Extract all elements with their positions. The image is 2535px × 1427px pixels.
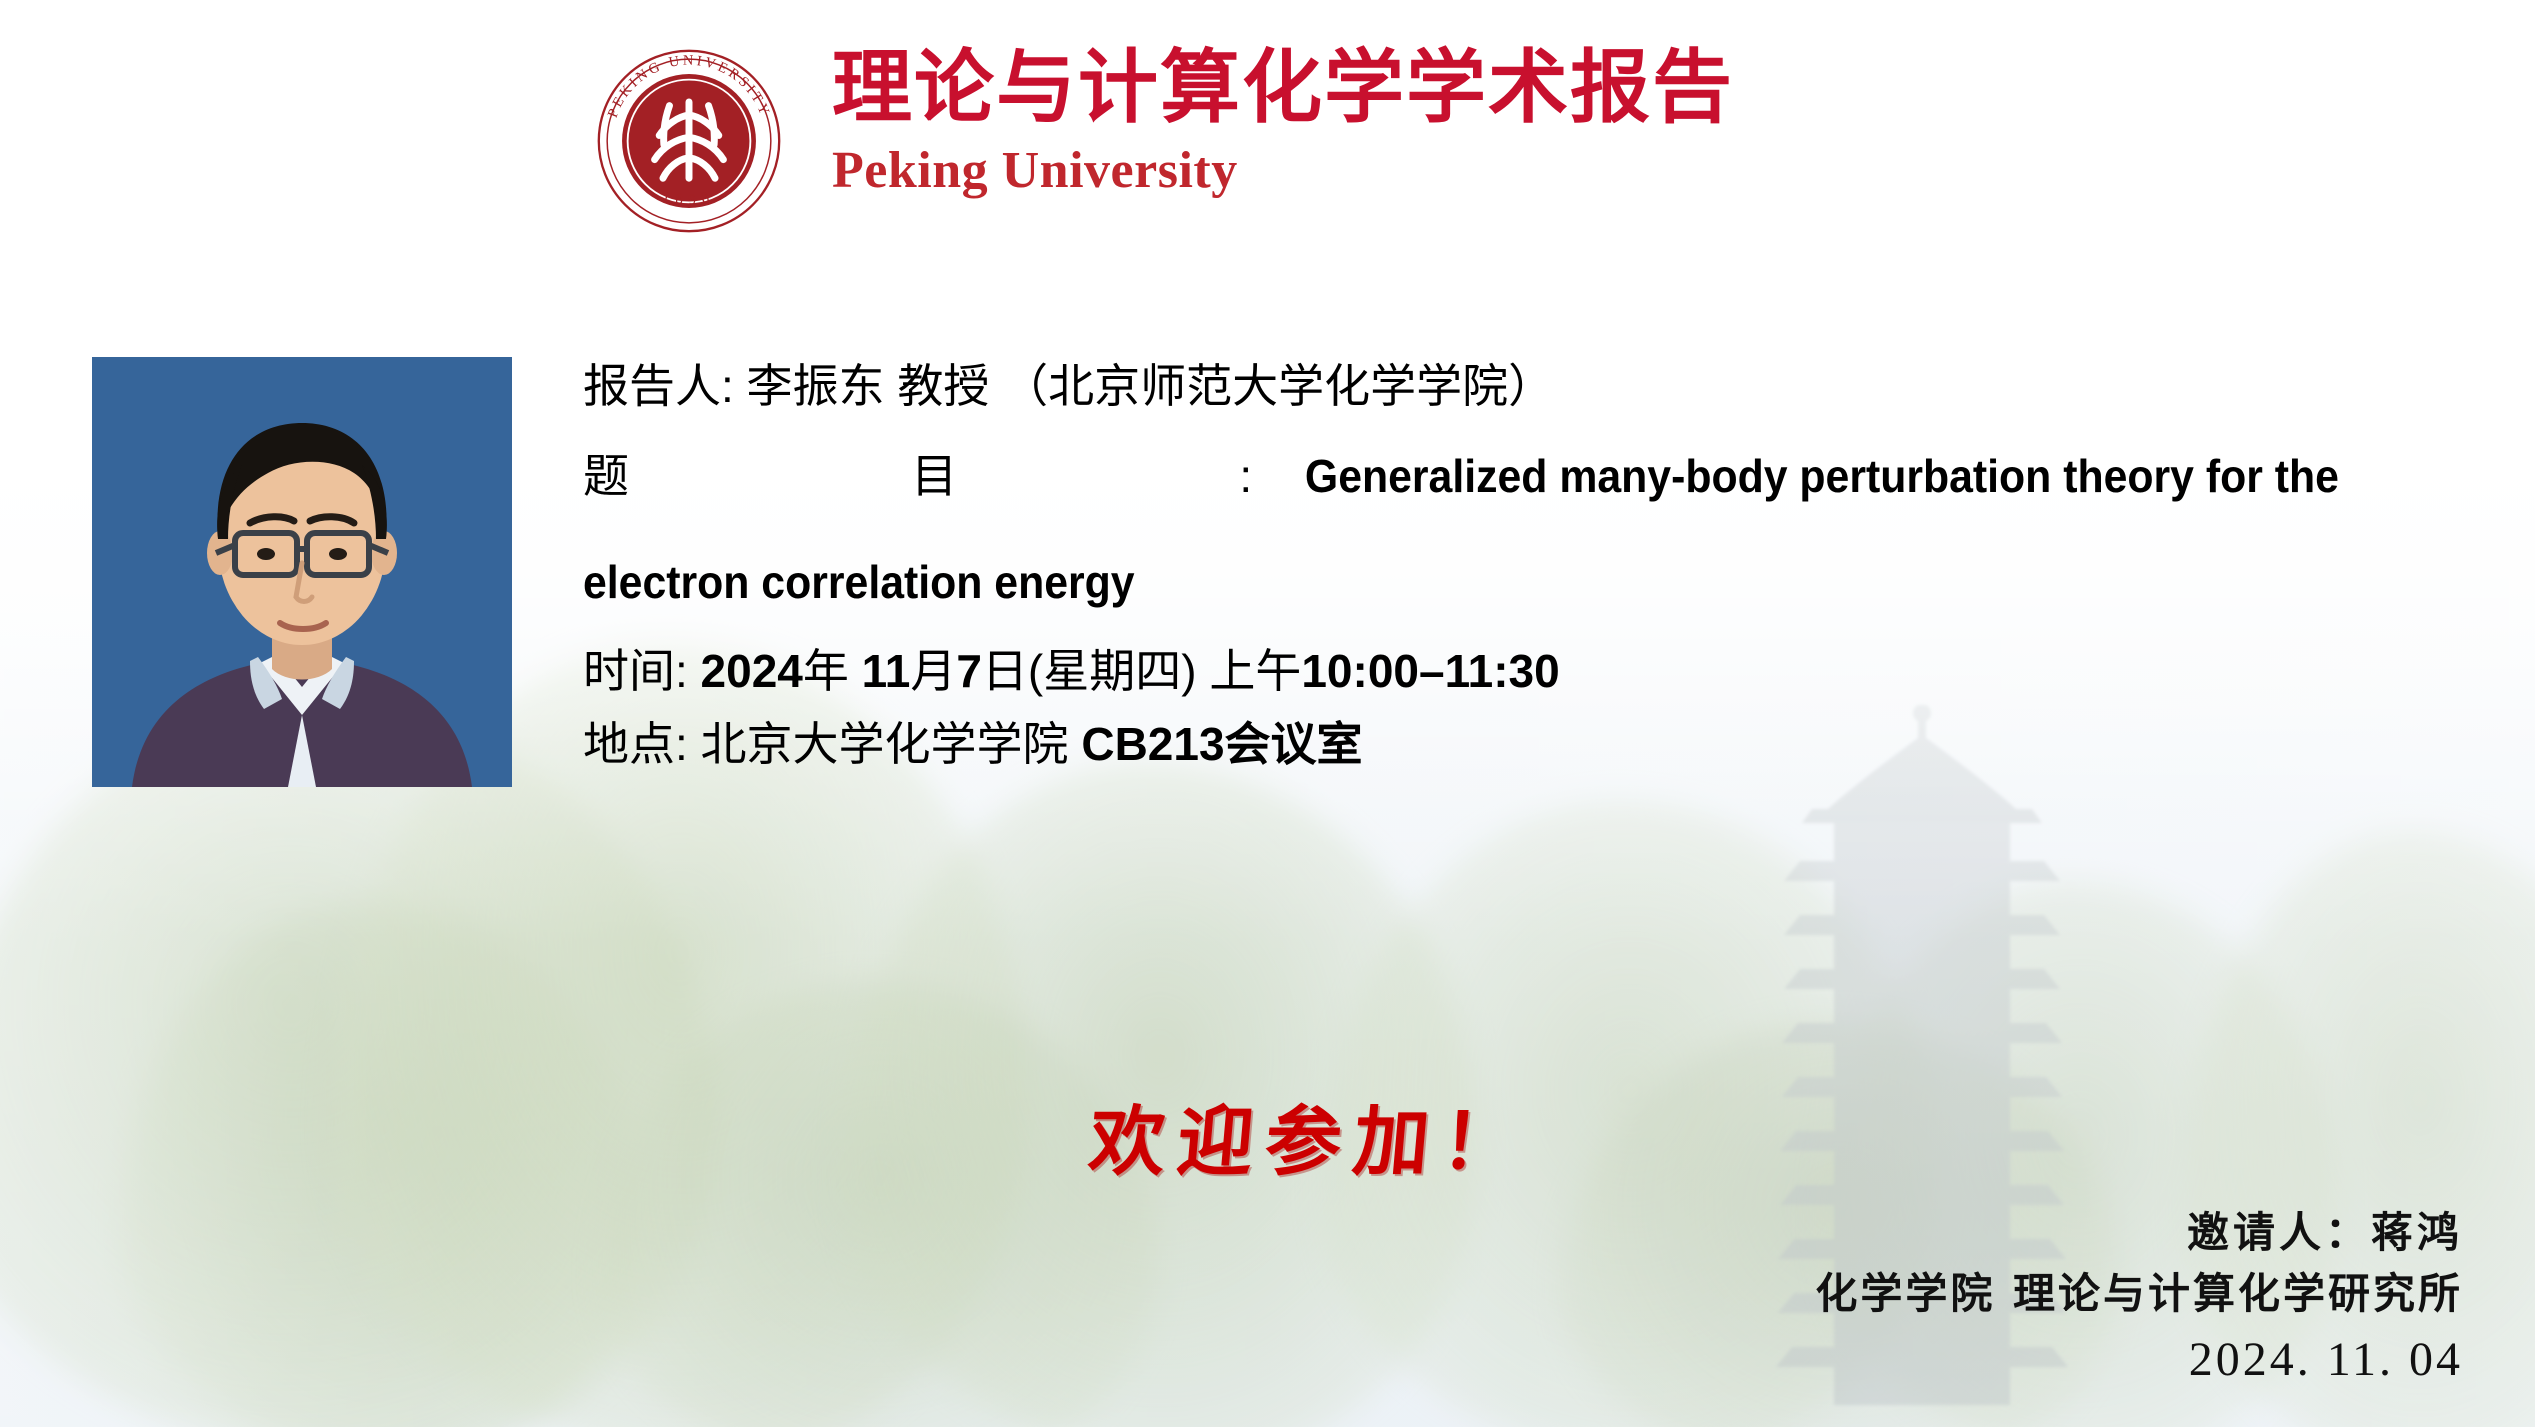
- poster-header: PEKING UNIVERSITY 1898 理论与计算化学学术报告 Pekin…: [0, 0, 2535, 270]
- topic-text-line1: Generalized many-body perturbation theor…: [1305, 423, 2339, 529]
- speaker-portrait-photo: [92, 357, 512, 787]
- welcome-message: 欢迎参加！: [1085, 1080, 1535, 1190]
- time-month-unit: 月: [910, 645, 956, 697]
- time-day: 7: [956, 645, 982, 697]
- place-room-suffix: 会议室: [1225, 718, 1363, 770]
- time-year-unit: 年: [803, 645, 849, 697]
- time-period: 上午: [1197, 645, 1302, 697]
- speaker-label: 报告人:: [583, 360, 734, 412]
- inviter-line: 邀请人：蒋鸿: [1815, 1205, 2463, 1261]
- organization-line: 化学学院 理论与计算化学研究所: [1815, 1261, 2463, 1327]
- issue-date: 2024. 11. 04: [1815, 1327, 2463, 1393]
- topic-line-1: 题 目 :Generalized many-body perturbation …: [583, 423, 2378, 529]
- poster-title-en: Peking University: [832, 140, 1734, 202]
- place-room-code: CB213: [1081, 718, 1224, 770]
- poster-title-cn: 理论与计算化学学术报告: [832, 42, 1734, 134]
- time-year: 2024: [688, 645, 803, 697]
- topic-label: 题 目 :: [583, 450, 1266, 502]
- peking-university-seal-icon: PEKING UNIVERSITY 1898: [596, 48, 782, 234]
- time-line: 时间: 2024年 11月7日(星期四) 上午10:00–11:30: [583, 635, 2393, 708]
- time-month: 11: [849, 645, 910, 697]
- topic-line-2: electron correlation energy: [583, 529, 2393, 635]
- poster-footer: 邀请人：蒋鸿 化学学院 理论与计算化学研究所 2024. 11. 04: [1815, 1205, 2463, 1393]
- header-text-block: 理论与计算化学学术报告 Peking University: [832, 42, 1734, 202]
- seminar-poster: PEKING UNIVERSITY 1898 理论与计算化学学术报告 Pekin…: [0, 0, 2535, 1427]
- place-label: 地点:: [583, 718, 688, 770]
- speaker-name: 李振东 教授 （北京师范大学化学学院）: [734, 360, 1554, 412]
- place-line: 地点: 北京大学化学学院 CB213会议室: [583, 708, 2393, 781]
- place-venue: 北京大学化学学院: [688, 718, 1082, 770]
- time-weekday: 日(星期四): [982, 645, 1197, 697]
- time-range: 10:00–11:30: [1301, 645, 1559, 697]
- topic-text-line2: electron correlation energy: [583, 529, 1135, 635]
- seminar-details: 报告人: 李振东 教授 （北京师范大学化学学院） 题 目 :Generalize…: [583, 350, 2393, 781]
- speaker-line: 报告人: 李振东 教授 （北京师范大学化学学院）: [583, 350, 2393, 423]
- time-label: 时间:: [583, 645, 688, 697]
